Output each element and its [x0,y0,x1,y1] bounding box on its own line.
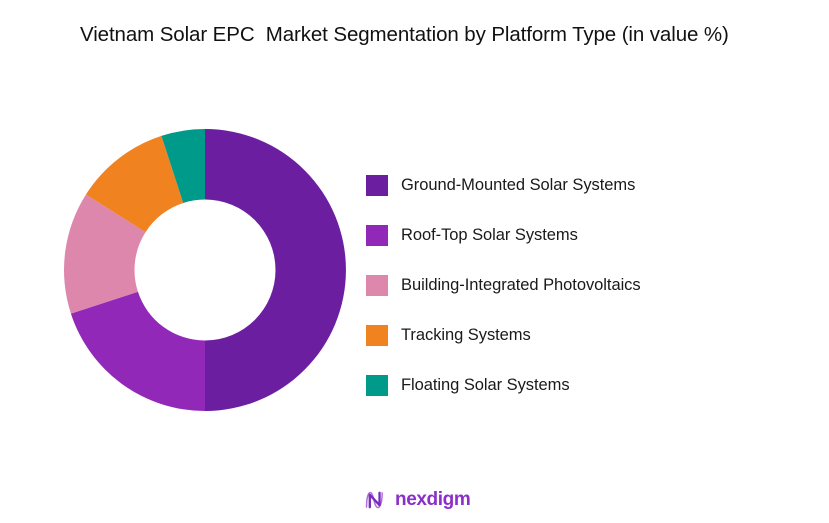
brand-name: nexdigm [395,489,470,511]
legend-item-label: Floating Solar Systems [401,375,570,396]
legend-color-swatch [366,225,388,246]
legend-item[interactable]: Roof-Top Solar Systems [366,210,786,260]
legend-color-swatch [366,175,388,196]
legend-item[interactable]: Building-Integrated Photovoltaics [366,260,786,310]
donut-chart-svg [64,129,346,411]
legend-item-label: Building-Integrated Photovoltaics [401,275,641,296]
legend-color-swatch [366,375,388,396]
legend-item-label: Roof-Top Solar Systems [401,225,578,246]
legend-item[interactable]: Ground-Mounted Solar Systems [366,160,786,210]
legend-item[interactable]: Floating Solar Systems [366,360,786,410]
donut-chart [64,129,346,411]
donut-slice-group [64,129,346,411]
brand-logo: nexdigm [362,485,470,515]
legend-item-label: Ground-Mounted Solar Systems [401,175,635,196]
donut-slice[interactable] [71,292,205,411]
nexdigm-wave-logo-icon [362,487,388,513]
legend-item-label: Tracking Systems [401,325,531,346]
chart-page: Vietnam Solar EPC Market Segmentation by… [0,0,829,523]
legend-color-swatch [366,325,388,346]
donut-slice[interactable] [205,129,346,411]
page-title: Vietnam Solar EPC Market Segmentation by… [80,20,770,50]
legend-item[interactable]: Tracking Systems [366,310,786,360]
legend-color-swatch [366,275,388,296]
chart-legend: Ground-Mounted Solar SystemsRoof-Top Sol… [366,160,786,410]
